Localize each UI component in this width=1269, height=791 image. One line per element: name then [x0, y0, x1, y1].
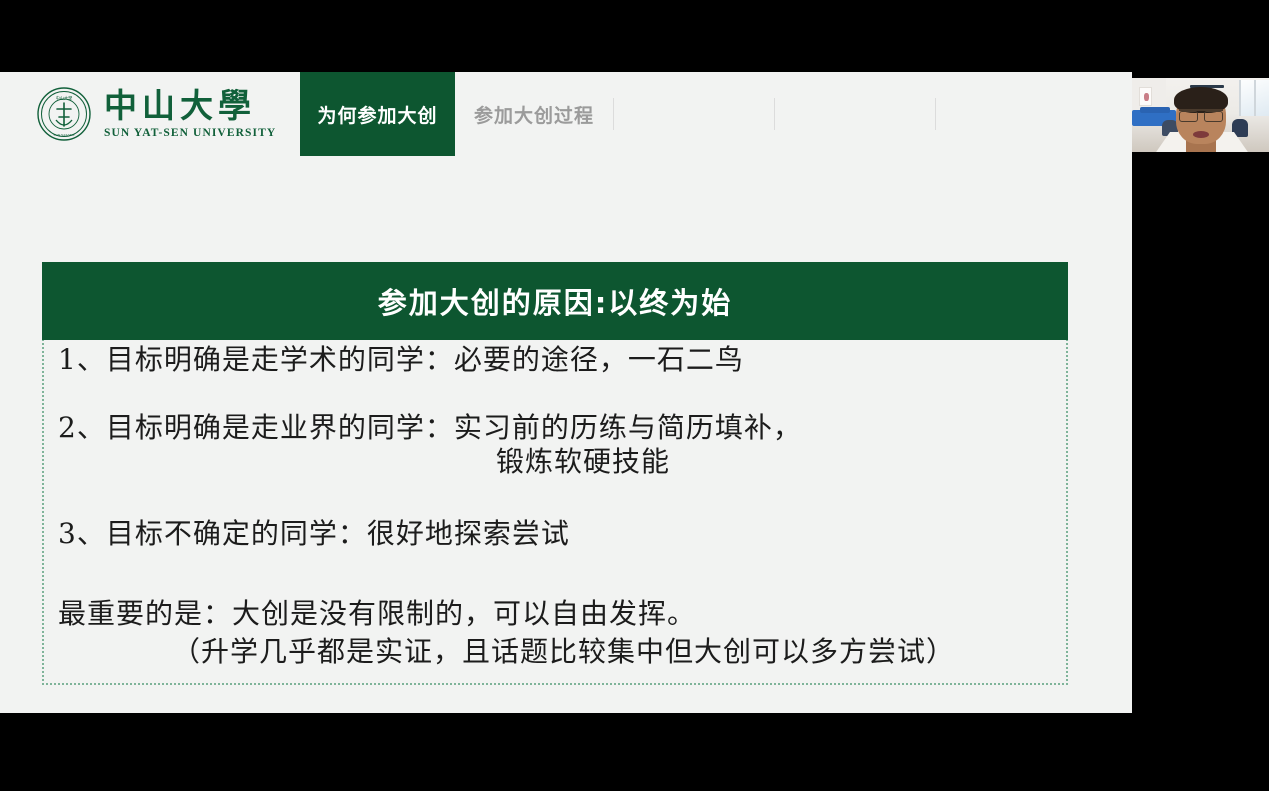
summary-line: 最重要的是：大创是没有限制的，可以自由发挥。: [44, 600, 1068, 628]
tab-why-join[interactable]: 为何参加大创: [300, 72, 455, 156]
summary-note-line: （升学几乎都是实证，且话题比较集中但大创可以多方尝试）: [44, 638, 1068, 666]
tab-why-join-label: 为何参加大创: [317, 101, 437, 128]
letterbox-right-top: [1132, 72, 1269, 78]
university-logo: 中山大學 SUN YAT-SEN 中山大學 SUN YAT-SEN UNIVER…: [0, 72, 300, 156]
webcam-wall-picture: [1139, 87, 1152, 106]
nav-empty-slot-1: [614, 72, 774, 156]
participant-webcam-tile[interactable]: [1132, 78, 1269, 152]
nav-empty-slot-2: [775, 72, 935, 156]
tab-join-process[interactable]: 参加大创过程: [455, 72, 613, 156]
slide-nav-tabs: 为何参加大创 参加大创过程: [300, 72, 1132, 156]
nav-separator-3: [935, 98, 936, 130]
letterbox-right: [1132, 152, 1269, 713]
slide-title-bar: 参加大创的原因:以终为始: [42, 262, 1068, 340]
webcam-sofa-back: [1140, 107, 1170, 113]
svg-text:中山大學: 中山大學: [56, 95, 73, 102]
logo-name-en: SUN YAT-SEN UNIVERSITY: [104, 128, 276, 140]
tab-join-process-label: 参加大创过程: [474, 101, 594, 128]
webcam-window: [1239, 80, 1269, 116]
bullet-line-2-cont: 锻炼软硬技能: [44, 448, 1068, 476]
letterbox-top: [0, 0, 1269, 72]
meeting-screen: 中山大學 SUN YAT-SEN 中山大學 SUN YAT-SEN UNIVER…: [0, 0, 1269, 791]
slide-body: 参加大创的原因:以终为始 1、目标明确是走学术的同学：必要的途径，一石二鸟 2、…: [0, 156, 1132, 713]
bullet-line-3: 3、目标不确定的同学：很好地探索尝试: [44, 520, 1068, 548]
logo-wordmark: 中山大學 SUN YAT-SEN UNIVERSITY: [104, 89, 276, 140]
letterbox-bottom: [0, 713, 1269, 791]
slide-header: 中山大學 SUN YAT-SEN 中山大學 SUN YAT-SEN UNIVER…: [0, 72, 1132, 156]
svg-text:SUN YAT-SEN: SUN YAT-SEN: [54, 133, 75, 137]
logo-name-cn: 中山大學: [104, 89, 276, 122]
shared-screen-slide[interactable]: 中山大學 SUN YAT-SEN 中山大學 SUN YAT-SEN UNIVER…: [0, 72, 1132, 713]
slide-title: 参加大创的原因:以终为始: [378, 280, 733, 322]
university-seal-icon: 中山大學 SUN YAT-SEN: [36, 86, 92, 142]
webcam-person-mouth: [1193, 131, 1209, 138]
bullet-line-2: 2、目标明确是走业界的同学：实习前的历练与简历填补，: [44, 414, 1068, 442]
glasses-icon: [1179, 109, 1223, 118]
slide-body-text: 1、目标明确是走学术的同学：必要的途径，一石二鸟 2、目标明确是走业界的同学：实…: [44, 346, 1068, 666]
bullet-line-1: 1、目标明确是走学术的同学：必要的途径，一石二鸟: [44, 346, 1068, 374]
